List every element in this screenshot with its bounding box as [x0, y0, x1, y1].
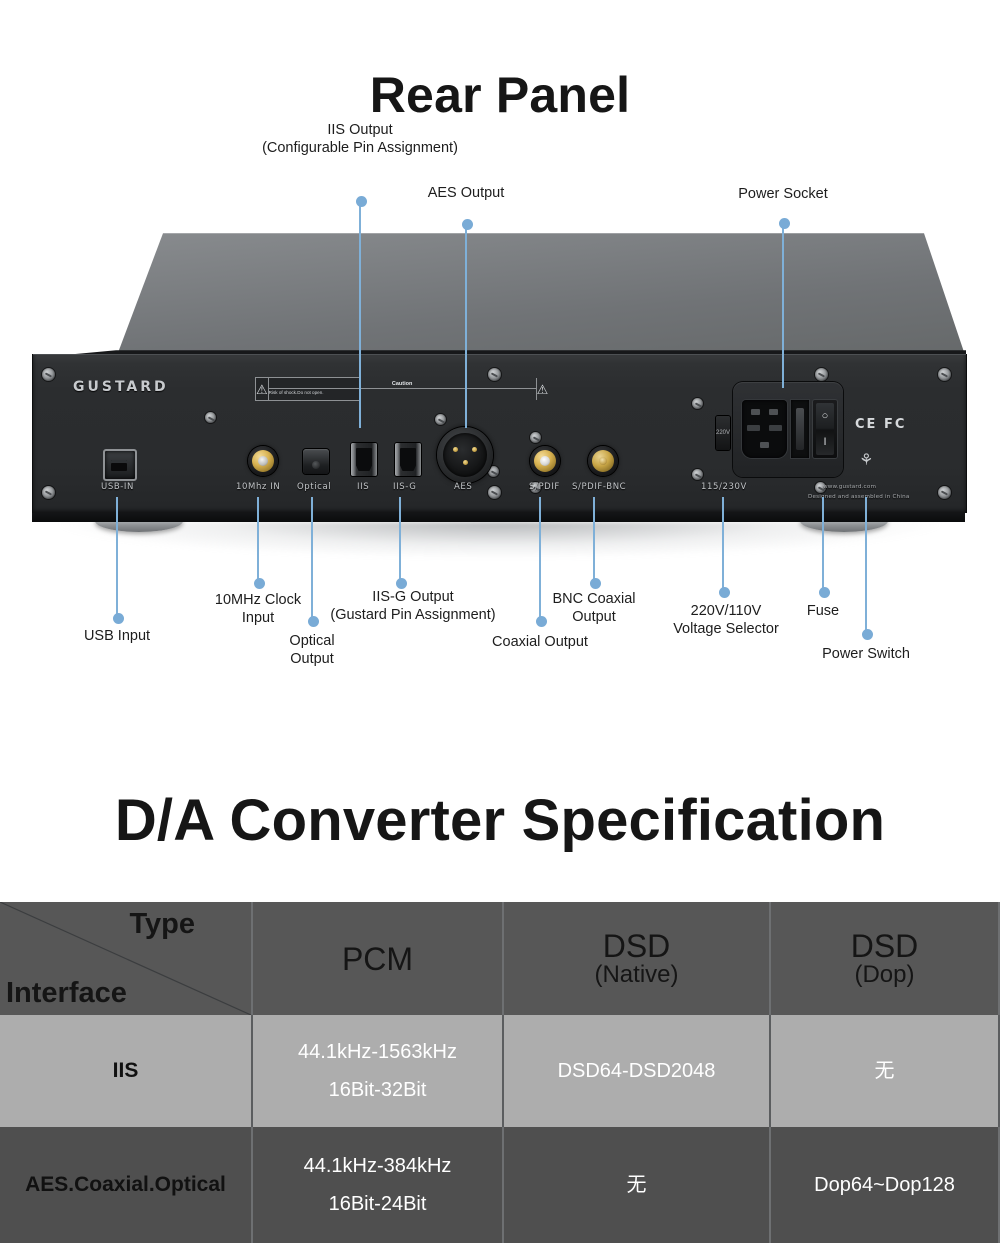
port-label-clock: 10Mhz IN — [236, 482, 280, 492]
power-socket-module: ○ I — [733, 382, 843, 477]
port-label-optical: Optical — [297, 482, 331, 492]
header-dsd-native-sub: (Native) — [594, 963, 678, 987]
table-row: AES.Coaxial.Optical 44.1kHz-384kHz 16Bit… — [0, 1127, 1000, 1243]
power-switch[interactable]: ○ I — [813, 400, 837, 458]
header-dsd-dop-sub: (Dop) — [854, 963, 914, 987]
callout-dot-icon — [590, 578, 601, 589]
callout-label: Power Socket — [563, 186, 1000, 204]
table-header-row: Type Interface PCM DSD (Native) DSD (Dop… — [0, 902, 1000, 1015]
port-label-iis-g: IIS-G — [393, 482, 416, 492]
header-pcm-label: PCM — [342, 945, 413, 973]
screw-icon — [42, 486, 55, 499]
cell-dsd-dop: Dop64~Dop128 — [771, 1127, 1000, 1243]
callout-dot-icon — [719, 587, 730, 598]
page-title-rear-panel: Rear Panel — [0, 66, 1000, 124]
caution-text: Risk of shock.Do not open. — [269, 389, 536, 397]
screw-icon — [938, 368, 951, 381]
cell-interface: IIS — [0, 1015, 253, 1127]
port-label-spdif-bnc: S/PDIF-BNC — [572, 482, 626, 492]
website-text: www.gustard.com — [823, 484, 876, 490]
warning-triangle-icon: ⚠ — [536, 378, 549, 400]
header-dsd-native-label: DSD — [603, 930, 671, 963]
cell-pcm-rate: 44.1kHz-384kHz — [304, 1152, 452, 1180]
callout-dot-icon — [779, 218, 790, 229]
header-dsd-dop-label: DSD — [851, 930, 919, 963]
callout-leader-line — [465, 229, 467, 428]
cell-pcm-depth: 16Bit-24Bit — [304, 1190, 452, 1218]
callout-dot-icon — [862, 629, 873, 640]
brand-logo: GUSTARD — [73, 379, 169, 395]
callout-leader-line — [359, 206, 361, 428]
device-rear-face: GUSTARD ⚠ Caution Risk of shock.Do not o… — [32, 354, 967, 513]
warning-triangle-icon: ⚠ — [256, 378, 269, 400]
port-label-iis: IIS — [357, 482, 369, 492]
screw-icon — [815, 368, 828, 381]
screw-icon — [692, 398, 703, 409]
table-header-dsd-dop: DSD (Dop) — [771, 902, 1000, 1015]
caution-heading: Caution — [269, 381, 536, 389]
cell-pcm-rate: 44.1kHz-1563kHz — [298, 1038, 457, 1066]
certification-marks: CE FC — [855, 417, 906, 432]
port-label-usb: USB-IN — [101, 482, 134, 492]
spdif-rca-port — [530, 446, 560, 476]
cell-pcm: 44.1kHz-384kHz 16Bit-24Bit — [253, 1127, 504, 1243]
callout-label: Fuse — [603, 603, 1000, 621]
table-row: IIS 44.1kHz-1563kHz 16Bit-32Bit DSD64-DS… — [0, 1015, 1000, 1127]
voltage-selector-switch[interactable]: 220V — [716, 416, 730, 450]
callout-dot-icon — [254, 578, 265, 589]
callout-leader-line — [722, 497, 724, 592]
port-label-voltage: 115/230V — [701, 482, 747, 492]
callout-label: Power Switch — [646, 646, 1000, 664]
port-label-spdif: S/PDIF — [529, 482, 560, 492]
cell-dsd-dop: 无 — [771, 1015, 1000, 1127]
fuse-holder[interactable] — [791, 400, 809, 458]
page-title-spec: D/A Converter Specification — [0, 787, 1000, 855]
cell-dsd-native: DSD64-DSD2048 — [504, 1015, 771, 1127]
screw-icon — [205, 412, 216, 423]
iec-power-inlet — [742, 400, 787, 458]
screw-icon — [530, 432, 541, 443]
caution-label: ⚠ Caution Risk of shock.Do not open. ⚠ — [255, 377, 360, 401]
device-rear-photo: GUSTARD ⚠ Caution Risk of shock.Do not o… — [0, 228, 1000, 558]
callout-leader-line — [822, 497, 824, 592]
usb-b-port — [103, 449, 137, 481]
spec-table: Type Interface PCM DSD (Native) DSD (Dop… — [0, 902, 1000, 1243]
callout-leader-line — [593, 497, 595, 583]
header-type-label: Type — [129, 910, 195, 938]
optical-toslink-port — [303, 449, 329, 474]
callout-dot-icon — [396, 578, 407, 589]
callout-label: IIS Output (Configurable Pin Assignment) — [140, 122, 580, 157]
aes-xlr-port — [437, 427, 493, 483]
callout-leader-line — [782, 228, 784, 388]
table-header-pcm: PCM — [253, 902, 504, 1015]
cell-dsd-native: 无 — [504, 1127, 771, 1243]
port-label-aes: AES — [454, 482, 472, 492]
table-corner-cell: Type Interface — [0, 902, 253, 1015]
iis-hdmi-port — [351, 443, 377, 476]
screw-icon — [42, 368, 55, 381]
clock-in-rca-port — [248, 446, 278, 476]
callout-leader-line — [399, 497, 401, 583]
iis-g-hdmi-port — [395, 443, 421, 476]
screw-icon — [488, 486, 501, 499]
rocker-off-symbol: ○ — [822, 411, 829, 422]
cell-pcm-depth: 16Bit-32Bit — [298, 1076, 457, 1104]
table-header-dsd-native: DSD (Native) — [504, 902, 771, 1015]
screw-icon — [938, 486, 951, 499]
callout-leader-line — [257, 497, 259, 583]
weee-bin-icon: ⚘ — [859, 450, 873, 470]
device-top-surface — [0, 228, 1000, 358]
callout-dot-icon — [462, 219, 473, 230]
screw-icon — [435, 414, 446, 425]
rocker-on-symbol: I — [823, 437, 826, 448]
screw-icon — [692, 469, 703, 480]
spdif-bnc-port — [588, 446, 618, 476]
callout-leader-line — [865, 497, 867, 634]
callout-dot-icon — [819, 587, 830, 598]
cell-pcm: 44.1kHz-1563kHz 16Bit-32Bit — [253, 1015, 504, 1127]
header-interface-label: Interface — [6, 979, 127, 1007]
cell-interface: AES.Coaxial.Optical — [0, 1127, 253, 1243]
